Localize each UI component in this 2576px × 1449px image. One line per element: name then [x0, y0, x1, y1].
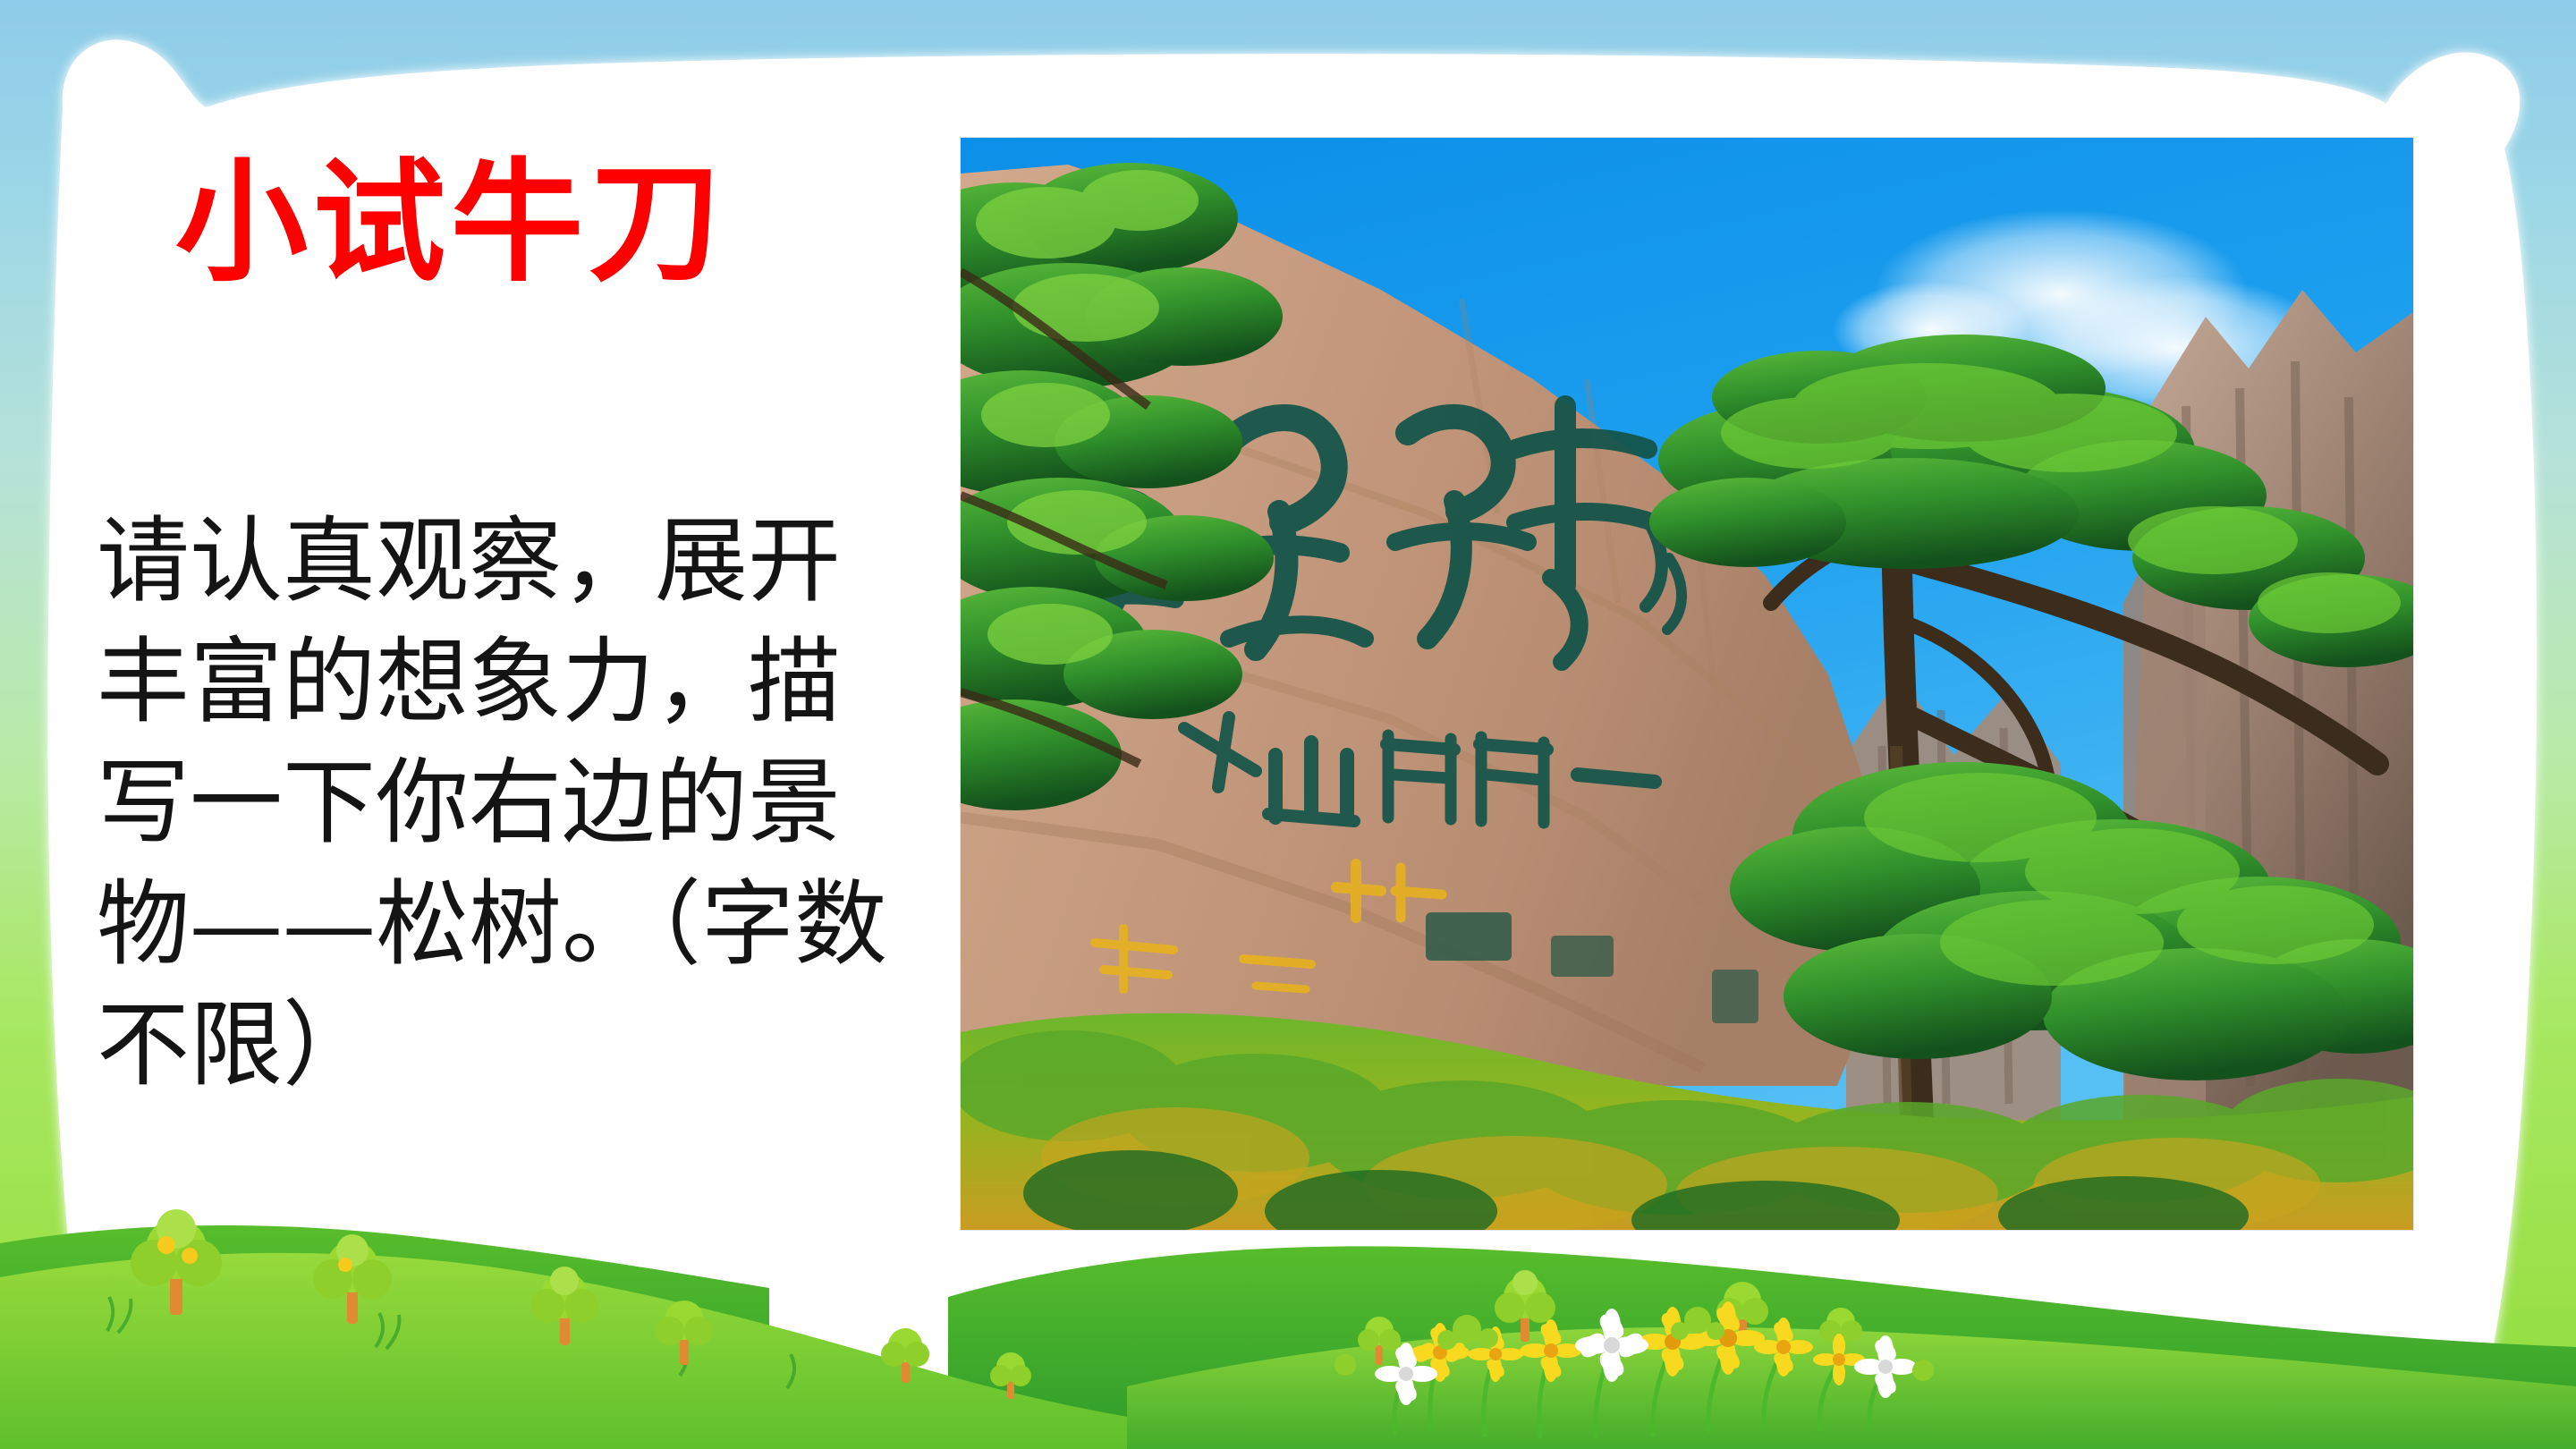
scenery-photo[interactable]	[961, 138, 2413, 1230]
page-title: 小试牛刀	[175, 154, 726, 292]
slide-canvas: 小试牛刀 请认真观察，展开丰富的想象力，描写一下你右边的景物——松树。（字数不限…	[0, 0, 2576, 1449]
instruction-text: 请认真观察，展开丰富的想象力，描写一下你右边的景物——松树。（字数不限）	[97, 501, 902, 1106]
